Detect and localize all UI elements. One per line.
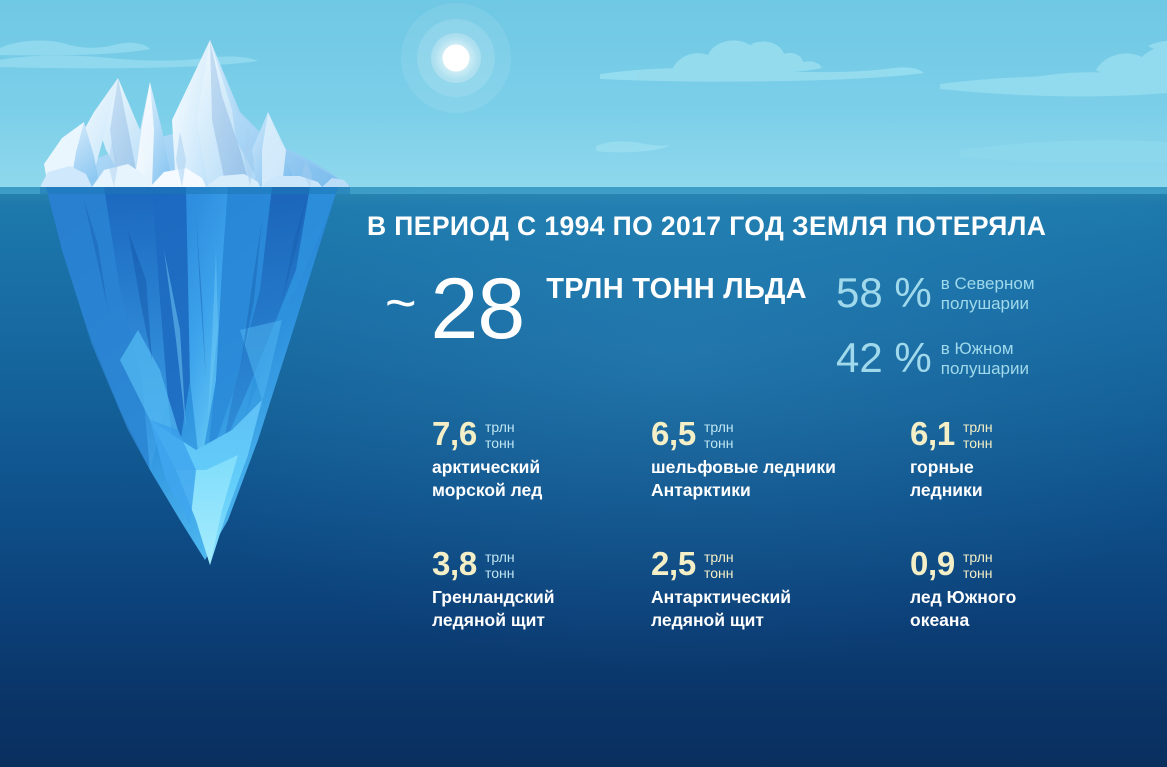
stat-head: 6,5 трлн тонн — [651, 417, 911, 451]
stat-value: 6,1 — [910, 417, 955, 451]
stat-description: горные ледники — [910, 456, 1160, 501]
stat-description: шельфовые ледники Антарктики — [651, 456, 911, 501]
stat-description: Гренландский ледяной щит — [432, 586, 682, 631]
stat-item-antarctic-ice-shelves: 6,5 трлн тонн шельфовые ледники Антаркти… — [651, 417, 911, 501]
stat-unit: трлн тонн — [485, 420, 515, 451]
stat-head: 3,8 трлн тонн — [432, 547, 682, 581]
infographic-canvas: В ПЕРИОД С 1994 ПО 2017 ГОД ЗЕМЛЯ ПОТЕРЯ… — [0, 0, 1167, 767]
stat-value: 7,6 — [432, 417, 477, 451]
stat-head: 0,9 трлн тонн — [910, 547, 1160, 581]
stat-item-greenland-ice-sheet: 3,8 трлн тонн Гренландский ледяной щит — [432, 547, 682, 631]
approx-symbol: ~ — [385, 268, 417, 338]
stat-value: 6,5 — [651, 417, 696, 451]
stat-description: арктический морской лед — [432, 456, 682, 501]
stat-description: лед Южного океана — [910, 586, 1160, 631]
total-unit-label: ТРЛН ТОНН ЛЬДА — [546, 273, 807, 306]
hemisphere-north-label: в Северном полушарии — [941, 274, 1035, 313]
stat-item-mountain-glaciers: 6,1 трлн тонн горные ледники — [910, 417, 1160, 501]
stat-item-southern-ocean-ice: 0,9 трлн тонн лед Южного океана — [910, 547, 1160, 631]
stat-description: Антарктический ледяной щит — [651, 586, 911, 631]
stat-unit: трлн тонн — [963, 420, 993, 451]
stat-value: 2,5 — [651, 547, 696, 581]
hemisphere-north-value: 58 % — [836, 270, 932, 316]
stat-head: 2,5 трлн тонн — [651, 547, 911, 581]
total-value: 28 — [431, 268, 525, 350]
stat-value: 0,9 — [910, 547, 955, 581]
stat-head: 6,1 трлн тонн — [910, 417, 1160, 451]
stat-item-antarctic-ice-sheet: 2,5 трлн тонн Антарктический ледяной щит — [651, 547, 911, 631]
page-title: В ПЕРИОД С 1994 ПО 2017 ГОД ЗЕМЛЯ ПОТЕРЯ… — [367, 211, 1046, 242]
stat-unit: трлн тонн — [963, 550, 993, 581]
hemisphere-south: 42 % в Южном полушарии — [836, 335, 1029, 381]
hemisphere-north: 58 % в Северном полушарии — [836, 270, 1035, 316]
infographic-text-layer: В ПЕРИОД С 1994 ПО 2017 ГОД ЗЕМЛЯ ПОТЕРЯ… — [0, 0, 1167, 767]
stat-unit: трлн тонн — [704, 550, 734, 581]
stat-item-arctic-sea-ice: 7,6 трлн тонн арктический морской лед — [432, 417, 682, 501]
hemisphere-south-label: в Южном полушарии — [941, 339, 1029, 378]
stat-value: 3,8 — [432, 547, 477, 581]
stat-unit: трлн тонн — [704, 420, 734, 451]
hemisphere-south-value: 42 % — [836, 335, 932, 381]
stat-head: 7,6 трлн тонн — [432, 417, 682, 451]
stat-unit: трлн тонн — [485, 550, 515, 581]
total-ice-loss-figure: ~ 28 ТРЛН ТОНН ЛЬДА — [385, 268, 807, 350]
